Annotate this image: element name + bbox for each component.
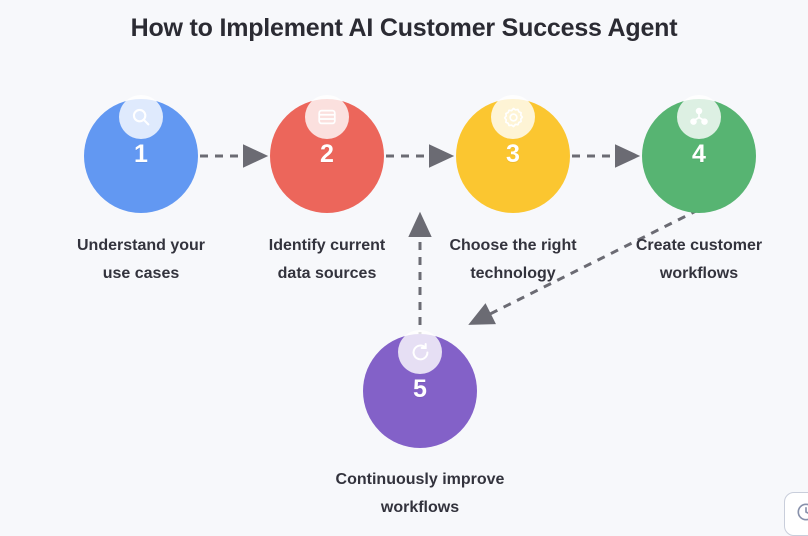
step-caption-2-line1: Identify current <box>220 232 434 260</box>
infographic-canvas: How to Implement AI Customer Success Age… <box>0 0 808 519</box>
step-node-1[interactable]: 1 <box>84 99 198 213</box>
step-number-4: 4 <box>642 142 756 167</box>
step-caption-3: Choose the right technology <box>406 232 620 288</box>
step-node-5[interactable]: 5 <box>363 334 477 448</box>
step-caption-3-line1: Choose the right <box>406 232 620 260</box>
step-caption-4-line2: workflows <box>592 260 806 288</box>
step-number-1: 1 <box>84 142 198 167</box>
step-caption-1-line2: use cases <box>34 260 248 288</box>
gear-icon <box>491 95 535 139</box>
step-caption-2-line2: data sources <box>220 260 434 288</box>
step-caption-5-line1: Continuously improve <box>313 466 527 494</box>
step-caption-3-line2: technology <box>406 260 620 288</box>
step-number-3: 3 <box>456 142 570 167</box>
step-number-5: 5 <box>363 377 477 402</box>
step-caption-1: Understand your use cases <box>34 232 248 288</box>
step-caption-5-line2: workflows <box>313 494 527 522</box>
step-caption-4-line1: Create customer <box>592 232 806 260</box>
step-caption-5: Continuously improve workflows <box>313 466 527 522</box>
refresh-loop-icon <box>398 330 442 374</box>
search-icon <box>119 95 163 139</box>
step-node-4[interactable]: 4 <box>642 99 756 213</box>
step-number-2: 2 <box>270 142 384 167</box>
step-caption-1-line1: Understand your <box>34 232 248 260</box>
step-node-3[interactable]: 3 <box>456 99 570 213</box>
share-nodes-icon <box>677 95 721 139</box>
circle-clock-icon <box>795 501 808 528</box>
page-title: How to Implement AI Customer Success Age… <box>0 14 808 43</box>
step-caption-4: Create customer workflows <box>592 232 806 288</box>
corner-widget-button[interactable] <box>784 492 808 536</box>
database-icon <box>305 95 349 139</box>
step-caption-2: Identify current data sources <box>220 232 434 288</box>
step-node-2[interactable]: 2 <box>270 99 384 213</box>
